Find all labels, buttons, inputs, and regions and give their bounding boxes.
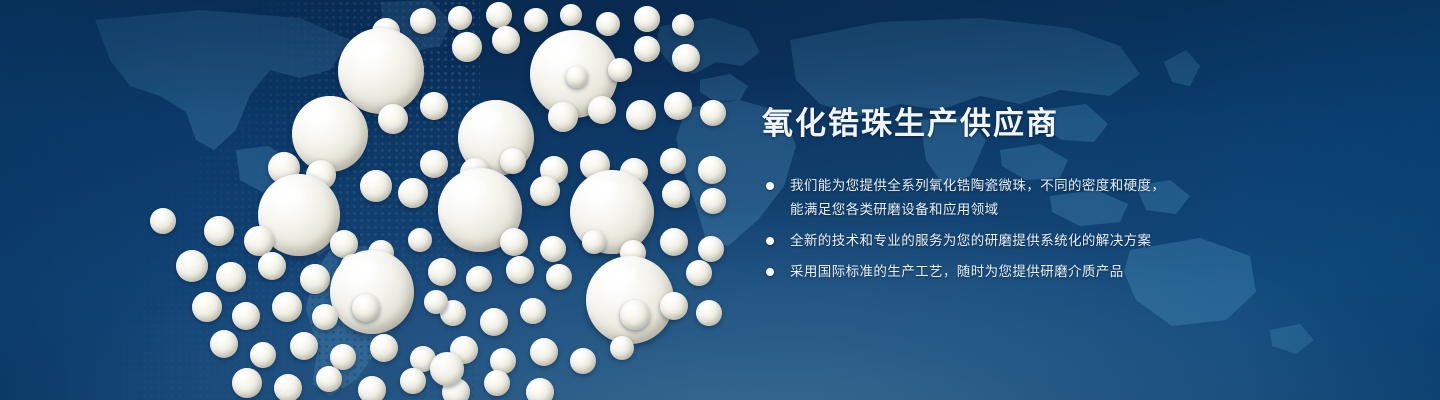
ceramic-bead bbox=[560, 4, 582, 26]
ceramic-bead bbox=[408, 228, 432, 252]
ceramic-bead bbox=[448, 6, 472, 30]
ceramic-bead bbox=[664, 92, 692, 120]
ceramic-bead bbox=[250, 342, 276, 368]
bullet-dot-icon bbox=[766, 182, 774, 190]
ceramic-bead bbox=[530, 338, 558, 366]
list-item-text: 全新的技术和专业的服务为您的研磨提供系统化的解决方案 bbox=[790, 233, 1151, 248]
ceramic-bead bbox=[626, 100, 656, 130]
ceramic-bead bbox=[520, 298, 546, 324]
ceramic-bead bbox=[484, 370, 510, 396]
ceramic-bead bbox=[420, 92, 448, 120]
ceramic-bead bbox=[500, 228, 528, 256]
ceramic-bead bbox=[540, 236, 566, 262]
ceramic-bead bbox=[358, 376, 386, 400]
ceramic-bead bbox=[486, 2, 512, 28]
ceramic-bead bbox=[500, 148, 526, 174]
ceramic-bead bbox=[292, 96, 368, 172]
ceramic-bead bbox=[530, 176, 560, 206]
ceramic-bead bbox=[338, 28, 424, 114]
ceramic-bead bbox=[660, 148, 686, 174]
ceramic-bead bbox=[316, 366, 342, 392]
ceramic-bead bbox=[582, 230, 606, 254]
ceramic-bead bbox=[566, 66, 588, 88]
ceramic-bead bbox=[634, 6, 660, 32]
list-item-text: 我们能为您提供全系列氧化锆陶瓷微珠，不同的密度和硬度， bbox=[790, 178, 1165, 193]
banner-content: 氧化锆珠生产供应商 我们能为您提供全系列氧化锆陶瓷微珠，不同的密度和硬度，能满足… bbox=[762, 104, 1282, 291]
ceramic-bead bbox=[410, 8, 436, 34]
ceramic-bead bbox=[696, 300, 722, 326]
ceramic-bead bbox=[210, 330, 238, 358]
list-item: 我们能为您提供全系列氧化锆陶瓷微珠，不同的密度和硬度，能满足您各类研磨设备和应用… bbox=[762, 174, 1282, 222]
ceramic-bead bbox=[596, 12, 620, 36]
zirconia-beads-photo bbox=[0, 0, 760, 400]
ceramic-bead bbox=[608, 58, 632, 82]
ceramic-bead bbox=[216, 262, 246, 292]
ceramic-bead bbox=[570, 348, 596, 374]
ceramic-bead bbox=[330, 250, 414, 334]
ceramic-bead bbox=[428, 258, 456, 286]
ceramic-bead bbox=[686, 260, 712, 286]
page-title: 氧化锆珠生产供应商 bbox=[762, 104, 1282, 144]
ceramic-bead bbox=[400, 368, 426, 394]
ceramic-bead bbox=[378, 104, 408, 134]
ceramic-bead bbox=[452, 32, 482, 62]
ceramic-bead bbox=[398, 178, 428, 208]
ceramic-bead bbox=[360, 170, 392, 202]
ceramic-bead bbox=[274, 374, 302, 400]
ceramic-bead bbox=[204, 216, 234, 246]
ceramic-bead bbox=[698, 236, 724, 262]
ceramic-bead bbox=[700, 100, 726, 126]
ceramic-bead bbox=[672, 14, 694, 36]
ceramic-bead bbox=[660, 228, 688, 256]
ceramic-bead bbox=[352, 294, 380, 322]
ceramic-bead bbox=[546, 264, 572, 290]
ceramic-bead bbox=[232, 302, 260, 330]
ceramic-bead bbox=[698, 156, 726, 184]
list-item-text-continued: 能满足您各类研磨设备和应用领域 bbox=[790, 198, 1282, 222]
ceramic-bead bbox=[662, 180, 690, 208]
ceramic-bead bbox=[634, 36, 660, 62]
ceramic-bead bbox=[192, 292, 222, 322]
bullet-dot-icon bbox=[766, 237, 774, 245]
list-item-text: 采用国际标准的生产工艺，随时为您提供研磨介质产品 bbox=[790, 264, 1124, 279]
hero-banner: 氧化锆珠生产供应商 我们能为您提供全系列氧化锆陶瓷微珠，不同的密度和硬度，能满足… bbox=[0, 0, 1440, 400]
ceramic-bead bbox=[492, 26, 520, 54]
ceramic-bead bbox=[620, 300, 650, 330]
ceramic-bead bbox=[610, 336, 634, 360]
ceramic-bead bbox=[424, 290, 448, 314]
ceramic-bead bbox=[420, 150, 448, 178]
list-item: 全新的技术和专业的服务为您的研磨提供系统化的解决方案 bbox=[762, 229, 1282, 253]
ceramic-bead bbox=[524, 8, 548, 32]
ceramic-bead bbox=[466, 266, 492, 292]
ceramic-bead bbox=[548, 102, 578, 132]
ceramic-bead bbox=[370, 334, 398, 362]
ceramic-bead bbox=[176, 250, 208, 282]
ceramic-bead bbox=[588, 96, 616, 124]
ceramic-bead bbox=[258, 252, 286, 280]
bullet-dot-icon bbox=[766, 268, 774, 276]
ceramic-bead bbox=[430, 352, 464, 386]
ceramic-bead bbox=[506, 256, 534, 284]
ceramic-bead bbox=[232, 368, 262, 398]
ceramic-bead bbox=[672, 44, 700, 72]
ceramic-bead bbox=[700, 188, 726, 214]
ceramic-bead bbox=[660, 292, 688, 320]
ceramic-bead bbox=[312, 304, 338, 330]
ceramic-bead bbox=[150, 208, 176, 234]
ceramic-bead bbox=[480, 308, 508, 336]
ceramic-bead bbox=[526, 378, 554, 400]
ceramic-bead bbox=[290, 332, 318, 360]
list-item: 采用国际标准的生产工艺，随时为您提供研磨介质产品 bbox=[762, 260, 1282, 284]
ceramic-bead bbox=[272, 292, 302, 322]
feature-list: 我们能为您提供全系列氧化锆陶瓷微珠，不同的密度和硬度，能满足您各类研磨设备和应用… bbox=[762, 174, 1282, 284]
ceramic-bead bbox=[300, 264, 330, 294]
